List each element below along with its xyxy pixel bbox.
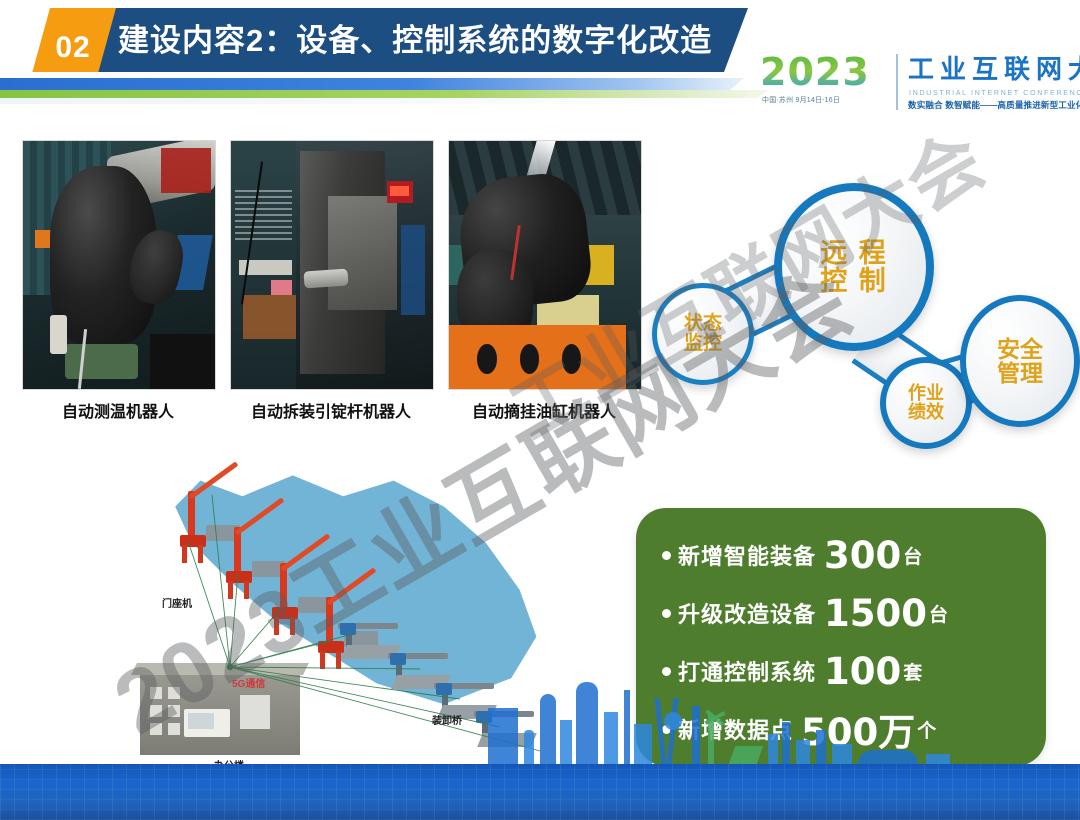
logo-slogan: 数实融合 数智赋能——高质量推进新型工业化 — [908, 99, 1080, 111]
photo-caption-3: 自动摘挂油缸机器人 — [448, 398, 640, 422]
photo-auto-rod-robot — [230, 140, 434, 390]
stat-label: 新增智能装备 — [678, 539, 816, 571]
port-label-5g: 5G通信 — [232, 675, 265, 690]
diagram-node-safety-label: 安全管理 — [997, 337, 1043, 385]
logo-year: 2023 — [760, 52, 888, 92]
photo-2-scene — [231, 141, 433, 389]
footer-mesh-pattern — [0, 764, 1080, 820]
diagram-node-work-performance[interactable]: 作业绩效 — [880, 357, 972, 449]
stat-unit: 台 — [929, 600, 948, 627]
slide-root: 建设内容2：设备、控制系统的数字化改造 02 2023 中国·苏州 9月14日-… — [0, 0, 1080, 820]
diagram-node-safety-management[interactable]: 安全管理 — [960, 295, 1080, 427]
bullet-icon — [662, 609, 671, 618]
bullet-icon — [662, 551, 671, 560]
photo-caption-1: 自动测温机器人 — [22, 398, 214, 422]
page-title: 建设内容2：设备、控制系统的数字化改造 — [118, 16, 738, 66]
stat-row: 升级改造设备 1500 台 — [636, 584, 1046, 642]
stat-value: 300 — [824, 534, 901, 577]
photo-auto-temperature-robot — [22, 140, 216, 390]
photo-1-scene — [23, 141, 215, 389]
header-stripe-green — [0, 90, 770, 98]
logo-name-cn: 工业互联网大会 — [908, 52, 1078, 86]
diagram-node-remote-control[interactable]: 远 程控 制 — [774, 183, 934, 351]
slide-footer — [0, 764, 1080, 820]
header-stripe-blue — [0, 78, 744, 90]
logo-divider — [896, 54, 898, 110]
diagram-node-perf-label: 作业绩效 — [908, 384, 944, 422]
logo-date: 中国·苏州 9月14日-16日 — [762, 95, 892, 105]
diagram-node-status-label: 状态监控 — [684, 314, 722, 354]
header-stripe-soft — [0, 98, 800, 104]
port-label-gantry: 门座机 — [162, 595, 192, 610]
stat-label: 升级改造设备 — [678, 597, 816, 629]
diagram-node-remote-label: 远 程控 制 — [820, 239, 888, 296]
photo-auto-cylinder-robot — [448, 140, 642, 390]
conference-logo: 2023 中国·苏州 9月14日-16日 工业互联网大会 INDUSTRIAL … — [760, 52, 1072, 114]
capability-network-diagram: 状态监控 远 程控 制 作业绩效 安全管理 — [630, 165, 1080, 465]
photo-3-scene — [449, 141, 641, 389]
stat-row: 新增智能装备 300 台 — [636, 526, 1046, 584]
diagram-node-status-monitoring[interactable]: 状态监控 — [652, 283, 754, 385]
port-label-loader: 装卸桥 — [432, 712, 462, 727]
logo-name-en: INDUSTRIAL INTERNET CONFERENCE — [909, 88, 1077, 97]
stat-value: 1500 — [824, 592, 927, 635]
city-skyline-decoration — [480, 672, 960, 764]
header-stripe-white — [0, 72, 700, 79]
stat-unit: 台 — [903, 542, 922, 569]
photo-caption-2: 自动拆装引锭杆机器人 — [230, 398, 432, 422]
